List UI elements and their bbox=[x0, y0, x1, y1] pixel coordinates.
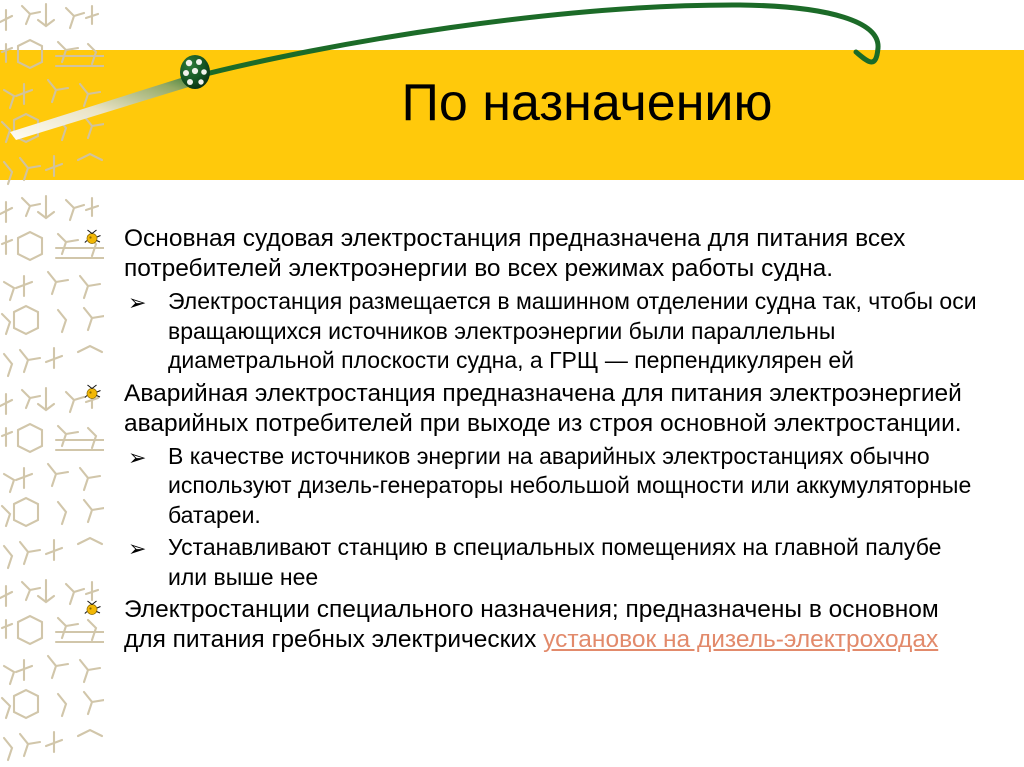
arrowhead-bullet-icon: ➢ bbox=[128, 442, 168, 474]
bee-bullet-icon bbox=[84, 224, 124, 245]
list-item[interactable]: Электростанции специального назначения; … bbox=[84, 595, 984, 655]
arrowhead-bullet-icon: ➢ bbox=[128, 533, 168, 565]
list-item[interactable]: Аварийная электростанция предназначена д… bbox=[84, 379, 984, 439]
list-item[interactable]: ➢ В качестве источников энергии на авари… bbox=[84, 442, 984, 531]
slide: По назначению Основная судовая электрост… bbox=[0, 0, 1024, 767]
list-item-text: Электростанция размещается в машинном от… bbox=[168, 287, 984, 376]
bee-bullet-icon bbox=[84, 379, 124, 400]
content-body: Основная судовая электростанция предназн… bbox=[84, 224, 984, 658]
list-item-text: В качестве источников энергии на аварийн… bbox=[168, 442, 984, 531]
arrowhead-bullet-icon: ➢ bbox=[128, 287, 168, 319]
list-item[interactable]: ➢ Устанавливают станцию в специальных по… bbox=[84, 533, 984, 592]
list-item[interactable]: Основная судовая электростанция предназн… bbox=[84, 224, 984, 284]
list-item-text-with-link: Электростанции специального назначения; … bbox=[124, 595, 984, 655]
list-item-text: Основная судовая электростанция предназн… bbox=[124, 224, 984, 284]
hyperlink-diesel-electric-ships[interactable]: установок на дизель-электроходах bbox=[543, 626, 938, 653]
list-item-text: Аварийная электростанция предназначена д… bbox=[124, 379, 984, 439]
list-item[interactable]: ➢ Электростанция размещается в машинном … bbox=[84, 287, 984, 376]
bee-bullet-icon bbox=[84, 595, 124, 616]
list-item-text: Устанавливают станцию в специальных поме… bbox=[168, 533, 984, 592]
page-title: По назначению bbox=[0, 72, 1024, 134]
